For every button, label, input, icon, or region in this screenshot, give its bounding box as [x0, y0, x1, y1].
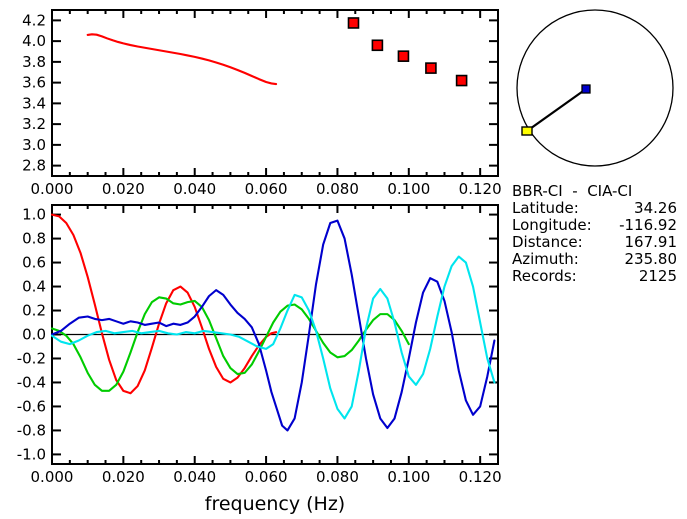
- info-row: Longitude:-116.92: [508, 217, 687, 234]
- info-row-label: Latitude:: [512, 200, 579, 217]
- figure-canvas: 0.0000.0200.0400.0600.0800.1000.1202.83.…: [0, 0, 687, 519]
- x-tick-label: 0.100: [387, 468, 430, 486]
- y-tick-label: 3.8: [22, 53, 46, 71]
- station-path-line: [527, 89, 586, 131]
- x-tick-label: 0.120: [459, 468, 502, 486]
- y-tick-label: 3.6: [22, 74, 46, 92]
- info-row-value: -116.92: [619, 217, 677, 234]
- info-panel-title: BBR-CI - CIA-CI: [508, 183, 687, 200]
- top-plot-frame: [52, 10, 498, 176]
- data-point-marker: [348, 18, 358, 28]
- blue-trace: [52, 221, 494, 431]
- x-tick-label: 0.020: [102, 468, 145, 486]
- station-marker-a[interactable]: [582, 85, 590, 93]
- y-tick-label: -0.6: [17, 397, 46, 415]
- x-tick-label: 0.020: [102, 180, 145, 198]
- x-tick-label: 0.100: [387, 180, 430, 198]
- picked-points: [348, 18, 466, 86]
- y-tick-label: 0.2: [22, 302, 46, 320]
- y-tick-label: 3.4: [22, 94, 46, 112]
- y-tick-label: 0.0: [22, 326, 46, 344]
- info-row: Distance:167.91: [508, 234, 687, 251]
- y-tick-label: 4.0: [22, 32, 46, 50]
- y-tick-label: 0.4: [22, 278, 46, 296]
- info-row-label: Records:: [512, 268, 577, 285]
- info-row-label: Azimuth:: [512, 251, 579, 268]
- y-tick-label: 0.8: [22, 230, 46, 248]
- y-tick-label: -0.8: [17, 421, 46, 439]
- y-tick-label: -0.4: [17, 373, 46, 391]
- data-point-marker: [426, 63, 436, 73]
- y-tick-label: 4.2: [22, 11, 46, 29]
- data-point-marker: [372, 40, 382, 50]
- y-tick-label: -1.0: [17, 445, 46, 463]
- x-tick-label: 0.080: [316, 468, 359, 486]
- info-row: Records:2125: [508, 268, 687, 285]
- y-tick-label: 0.6: [22, 254, 46, 272]
- info-row-label: Longitude:: [512, 217, 592, 234]
- x-axis-title: frequency (Hz): [205, 493, 345, 515]
- x-tick-label: 0.040: [173, 468, 216, 486]
- info-row-label: Distance:: [512, 234, 583, 251]
- data-point-marker: [457, 76, 467, 86]
- station-info-panel: BBR-CI - CIA-CILatitude:34.26Longitude:-…: [508, 183, 687, 285]
- info-row: Azimuth:235.80: [508, 251, 687, 268]
- info-row-value: 2125: [639, 268, 677, 285]
- x-tick-label: 0.120: [459, 180, 502, 198]
- x-tick-label: 0.080: [316, 180, 359, 198]
- y-tick-label: 2.8: [22, 157, 46, 175]
- y-tick-label: 1.0: [22, 206, 46, 224]
- x-tick-label: 0.060: [245, 180, 288, 198]
- dispersion-curve: [88, 34, 276, 84]
- y-tick-label: -0.2: [17, 349, 46, 367]
- info-row-value: 167.91: [625, 234, 678, 251]
- info-row-value: 235.80: [625, 251, 678, 268]
- great-circle-outline: [517, 10, 673, 166]
- y-tick-label: 3.2: [22, 115, 46, 133]
- info-row-value: 34.26: [634, 200, 677, 217]
- info-row: Latitude:34.26: [508, 200, 687, 217]
- x-tick-label: 0.000: [31, 180, 74, 198]
- y-tick-label: 3.0: [22, 136, 46, 154]
- x-tick-label: 0.060: [245, 468, 288, 486]
- station-marker-b[interactable]: [522, 127, 532, 135]
- x-tick-label: 0.000: [31, 468, 74, 486]
- data-point-marker: [398, 51, 408, 61]
- x-tick-label: 0.040: [173, 180, 216, 198]
